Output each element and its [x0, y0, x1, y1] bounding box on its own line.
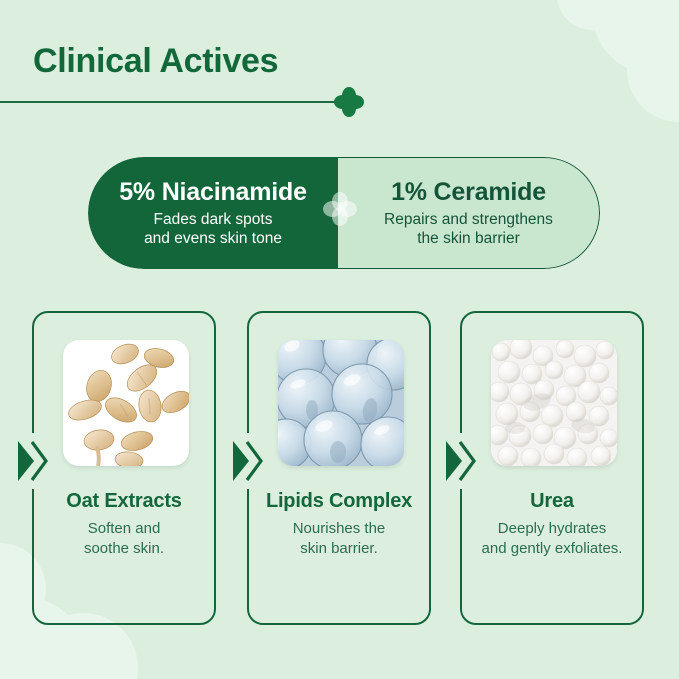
title-divider-rule [0, 101, 336, 103]
infographic-page: Clinical Actives 5% Niacinamide Fades da… [0, 0, 679, 679]
urea-granules-photo [491, 340, 617, 466]
ingredient-card-urea[interactable]: Urea Deeply hydrates and gently exfoliat… [460, 311, 644, 625]
header: Clinical Actives [0, 42, 679, 114]
decorative-blob [557, 0, 627, 30]
active-ceramide-description: Repairs and strengthens the skin barrier [384, 210, 553, 248]
ingredient-card-lipids-complex[interactable]: Lipids Complex Nourishes the skin barrie… [247, 311, 431, 625]
active-niacinamide-description: Fades dark spots and evens skin tone [144, 210, 282, 248]
lipid-bubbles-photo [278, 340, 404, 466]
active-ceramide-title: 1% Ceramide [391, 178, 546, 207]
active-ceramide: 1% Ceramide Repairs and strengthens the … [338, 157, 600, 269]
clover-plus-icon [323, 192, 357, 226]
active-niacinamide-title: 5% Niacinamide [119, 178, 307, 207]
ingredient-title: Oat Extracts [34, 490, 214, 513]
ingredient-description: Soften and soothe skin. [34, 519, 214, 559]
page-title: Clinical Actives [33, 42, 278, 81]
oat-flakes-photo [63, 340, 189, 466]
ingredient-title: Lipids Complex [249, 490, 429, 513]
double-chevron-right-icon [444, 438, 476, 484]
active-niacinamide: 5% Niacinamide Fades dark spots and even… [88, 157, 338, 269]
ingredient-card-oat-extracts[interactable]: Oat Extracts Soften and soothe skin. [32, 311, 216, 625]
ingredient-card-list: Oat Extracts Soften and soothe skin. [0, 311, 679, 629]
double-chevron-right-icon [16, 438, 48, 484]
double-chevron-right-icon [231, 438, 263, 484]
ingredient-title: Urea [462, 490, 642, 513]
ingredient-description: Deeply hydrates and gently exfoliates. [462, 519, 642, 559]
clover-plus-icon [334, 87, 364, 117]
ingredient-description: Nourishes the skin barrier. [249, 519, 429, 559]
